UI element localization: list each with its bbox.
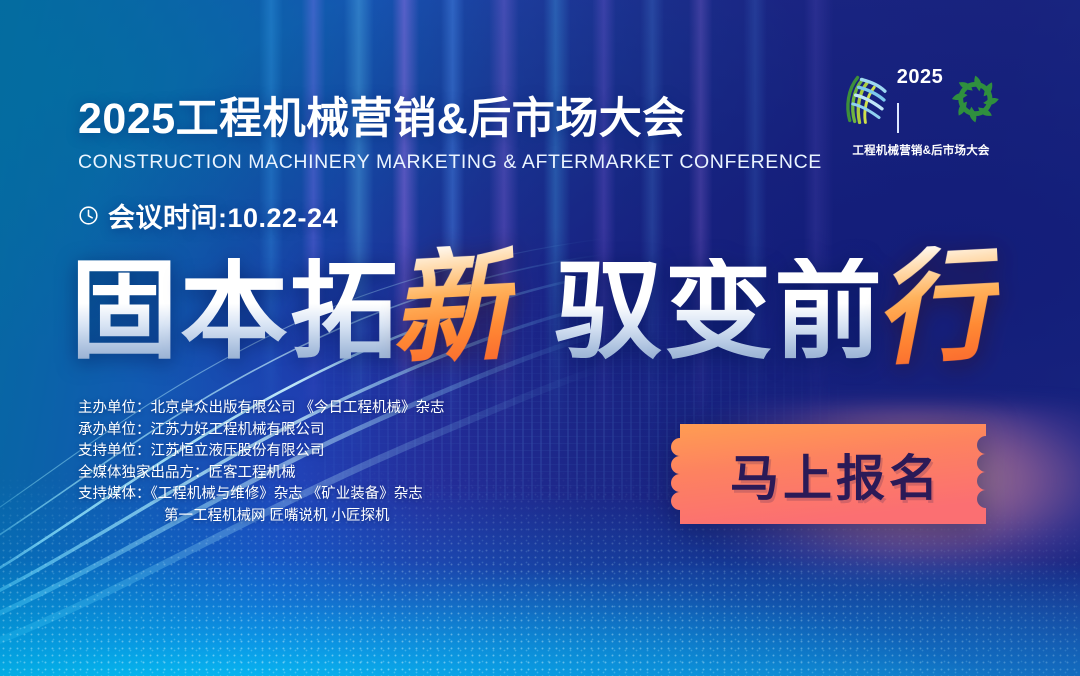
headline-char: 前 xyxy=(774,258,884,366)
green-wreath-ring-icon xyxy=(949,72,1002,126)
info-line-host: 主办单位：北京卓众出版有限公司 《今日工程机械》杂志 xyxy=(78,398,508,420)
logo-caption: 工程机械营销&后市场大会 xyxy=(840,142,1002,158)
logo-mark: 2025 xyxy=(840,58,1002,140)
logo-year: 2025 xyxy=(897,66,944,89)
headline-char: 变 xyxy=(664,258,774,366)
info-line-organizer: 承办单位：江苏力好工程机械有限公司 xyxy=(78,420,508,442)
conference-poster: 2025工程机械营销&后市场大会 CONSTRUCTION MACHINERY … xyxy=(0,0,1080,676)
headline-char-accent: 新 xyxy=(387,243,519,373)
register-now-button[interactable]: 马上报名 xyxy=(668,422,998,526)
headline-char: 固 xyxy=(70,258,180,366)
info-line-supporter: 支持单位：江苏恒立液压股份有限公司 xyxy=(78,441,508,463)
register-now-label: 马上报名 xyxy=(668,422,998,526)
meeting-time: 会议时间:10.22-24 xyxy=(78,196,778,235)
wheat-sheaf-emblem-icon xyxy=(840,71,891,127)
headline: 固 本 拓 新 驭 变 前 行 xyxy=(70,258,994,370)
info-line-media: 支持媒体：《工程机械与维修》杂志 《矿业装备》杂志 xyxy=(78,484,508,506)
info-line-media-cont: 第一工程机械网 匠嘴说机 小匠探机 xyxy=(78,506,508,528)
headline-char: 驭 xyxy=(554,258,664,366)
headline-char: 拓 xyxy=(290,258,400,366)
page-title: 2025工程机械营销&后市场大会 xyxy=(78,96,778,142)
headline-char-accent: 行 xyxy=(871,243,1003,373)
meeting-time-text: 会议时间:10.22-24 xyxy=(108,196,338,235)
logo-divider xyxy=(897,103,899,133)
page-subtitle-english: CONSTRUCTION MACHINERY MARKETING & AFTER… xyxy=(78,153,778,173)
clock-icon xyxy=(78,205,99,226)
headline-char: 本 xyxy=(180,258,290,366)
organizer-info: 主办单位：北京卓众出版有限公司 《今日工程机械》杂志 承办单位：江苏力好工程机械… xyxy=(78,398,508,527)
info-line-producer: 全媒体独家出品方：匠客工程机械 xyxy=(78,463,508,485)
conference-logo: 2025 工程机械营销&后市场大会 xyxy=(840,58,1002,158)
poster-header: 2025工程机械营销&后市场大会 CONSTRUCTION MACHINERY … xyxy=(78,96,778,235)
